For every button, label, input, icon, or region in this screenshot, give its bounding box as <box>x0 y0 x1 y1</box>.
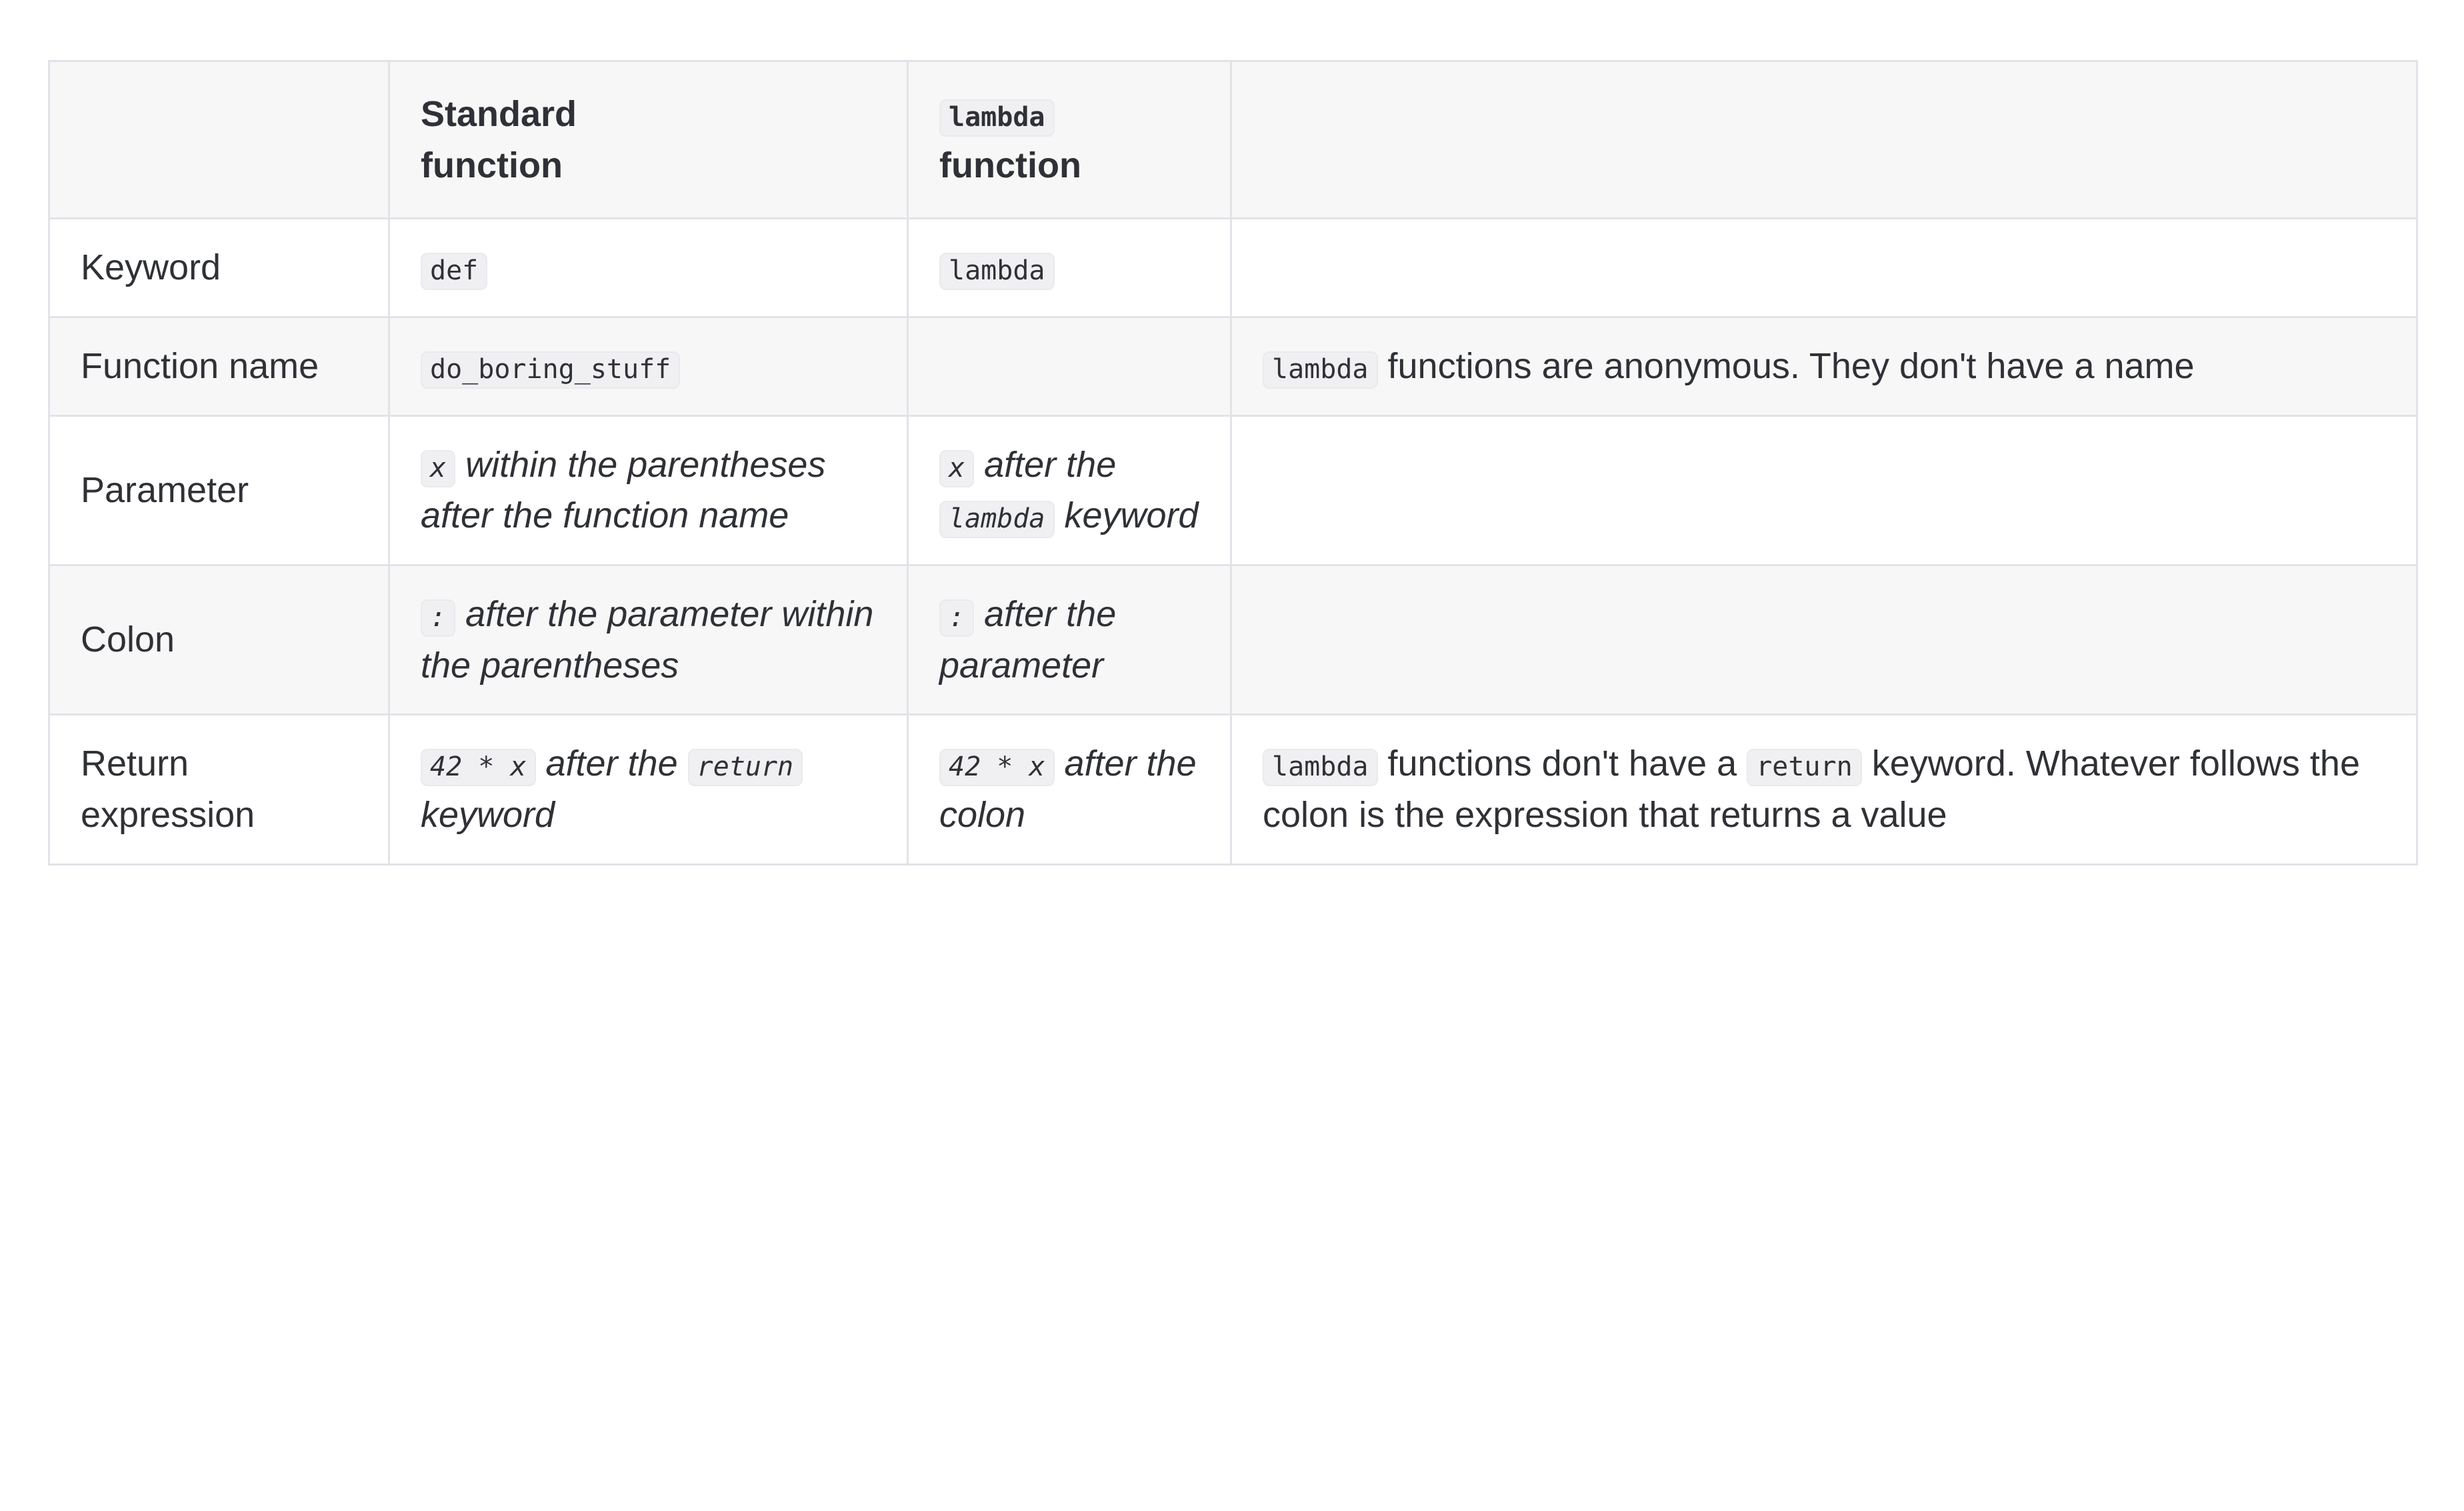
cell-standard-function: : after the parameter within the parenth… <box>389 565 908 715</box>
cell-standard-function-text-1: after the parameter within the parenthes… <box>421 594 873 685</box>
cell-notes: lambda functions are anonymous. They don… <box>1231 317 2417 416</box>
header-cell-lambda-function: lambda function <box>908 61 1231 219</box>
cell-lambda-function-content: 42 * x after the colon <box>939 738 1199 840</box>
cell-lambda-function-code-chip-2: lambda <box>939 501 1055 538</box>
cell-lambda-function-code-chip: lambda <box>939 253 1055 290</box>
cell-lambda-function-text-3: keyword <box>1055 495 1199 535</box>
cell-standard-function: 42 * x after the return keyword <box>389 715 908 864</box>
cell-standard-function-code-chip: def <box>421 253 487 290</box>
cell-notes: lambda functions don't have a return key… <box>1231 715 2417 864</box>
header-standard-line1: Standard <box>421 94 577 134</box>
cell-lambda-function <box>908 317 1231 416</box>
table-row: Colon: after the parameter within the pa… <box>49 565 2417 715</box>
header-cell-aspect <box>49 61 389 219</box>
cell-notes-content: lambda functions are anonymous. They don… <box>1263 341 2385 392</box>
table-row: Return expression42 * x after the return… <box>49 715 2417 864</box>
header-standard-line2: function <box>421 145 563 185</box>
table-header: Standard function lambda function <box>49 61 2417 219</box>
header-lambda-code-chip: lambda <box>939 99 1055 137</box>
row-label: Keyword <box>49 219 389 317</box>
header-cell-standard-function: Standard function <box>389 61 908 219</box>
cell-standard-function-content: def <box>421 242 876 293</box>
row-label: Function name <box>49 317 389 416</box>
row-label: Return expression <box>49 715 389 864</box>
cell-lambda-function: : after the parameter <box>908 565 1231 715</box>
cell-lambda-function-content: x after the lambda keyword <box>939 439 1199 541</box>
cell-notes-code-chip-0: lambda <box>1263 749 1378 786</box>
cell-notes-code-chip-2: return <box>1747 749 1862 786</box>
cell-notes-code-chip-0: lambda <box>1263 351 1378 389</box>
cell-standard-function-content: 42 * x after the return keyword <box>421 738 876 840</box>
cell-lambda-function: x after the lambda keyword <box>908 415 1231 565</box>
cell-standard-function: def <box>389 219 908 317</box>
cell-standard-function-code-chip-0: : <box>421 599 455 637</box>
cell-lambda-function-code-chip-0: x <box>939 450 974 487</box>
cell-standard-function-content: do_boring_stuff <box>421 341 876 392</box>
cell-lambda-function-text-1: after the <box>974 445 1116 485</box>
cell-standard-function: x within the parentheses after the funct… <box>389 415 908 565</box>
cell-standard-function-text-3: keyword <box>421 795 555 835</box>
cell-lambda-function-content: lambda <box>939 242 1199 293</box>
cell-standard-function-text-1: after the <box>536 743 688 784</box>
table-row: Parameterx within the parentheses after … <box>49 415 2417 565</box>
cell-standard-function-code-chip-0: 42 * x <box>421 749 536 786</box>
cell-notes-content: lambda functions don't have a return key… <box>1263 738 2385 840</box>
row-label: Colon <box>49 565 389 715</box>
cell-standard-function: do_boring_stuff <box>389 317 908 416</box>
header-row: Standard function lambda function <box>49 61 2417 219</box>
table-row: Function namedo_boring_stufflambda funct… <box>49 317 2417 416</box>
table-body: KeyworddeflambdaFunction namedo_boring_s… <box>49 219 2417 864</box>
cell-notes-text-1: functions don't have a <box>1378 743 1747 784</box>
cell-standard-function-content: x within the parentheses after the funct… <box>421 439 876 541</box>
cell-lambda-function-code-chip-0: 42 * x <box>939 749 1055 786</box>
cell-notes <box>1231 219 2417 317</box>
page-root: Standard function lambda function Keywor… <box>0 0 2464 1511</box>
table-row: Keyworddeflambda <box>49 219 2417 317</box>
cell-standard-function-code-chip: do_boring_stuff <box>421 351 680 389</box>
cell-notes-text-1: functions are anonymous. They don't have… <box>1378 346 2195 386</box>
cell-lambda-function-content: : after the parameter <box>939 589 1199 691</box>
cell-notes <box>1231 415 2417 565</box>
cell-lambda-function: 42 * x after the colon <box>908 715 1231 864</box>
header-cell-notes <box>1231 61 2417 219</box>
lambda-comparison-table: Standard function lambda function Keywor… <box>48 60 2418 866</box>
header-lambda-line2: function <box>939 145 1081 185</box>
cell-lambda-function: lambda <box>908 219 1231 317</box>
cell-standard-function-code-chip-2: return <box>688 749 803 786</box>
cell-notes <box>1231 565 2417 715</box>
cell-lambda-function-code-chip-0: : <box>939 599 974 637</box>
cell-standard-function-code-chip-0: x <box>421 450 455 487</box>
row-label: Parameter <box>49 415 389 565</box>
cell-standard-function-text-1: within the parentheses after the functio… <box>421 445 825 536</box>
cell-standard-function-content: : after the parameter within the parenth… <box>421 589 876 691</box>
